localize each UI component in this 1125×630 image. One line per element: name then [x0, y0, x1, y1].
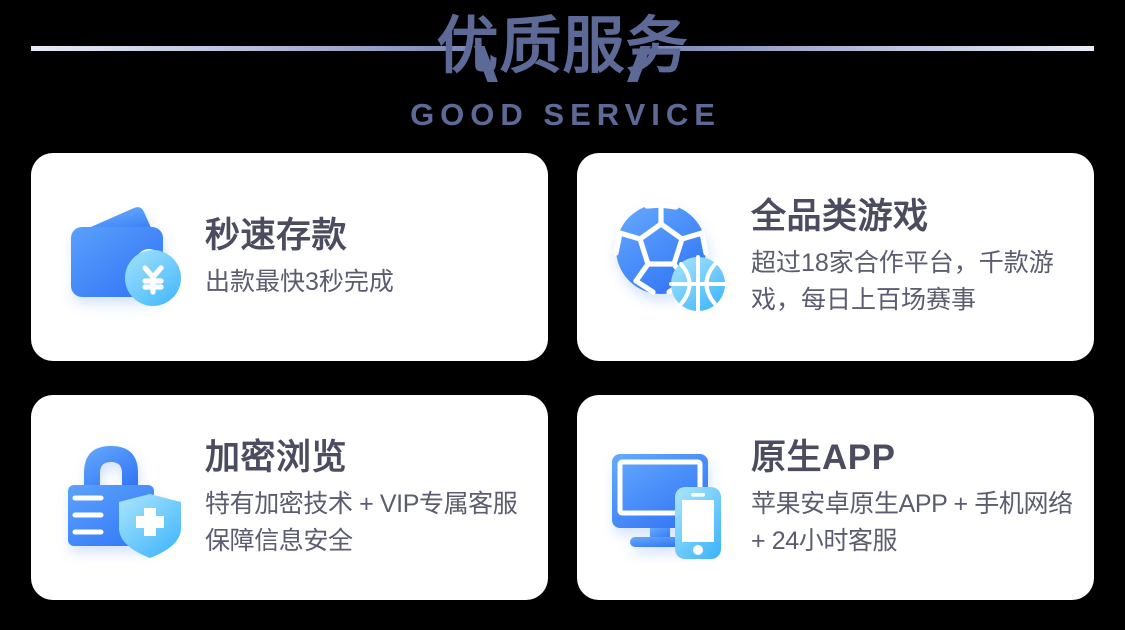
card-text-block: 原生APP 苹果安卓原生APP + 手机网络 + 24小时客服: [751, 436, 1084, 560]
card-title: 原生APP: [751, 436, 1084, 479]
card-description: 超过18家合作平台，千款游戏，每日上百场赛事: [751, 245, 1084, 319]
page-title: 优质服务: [0, 9, 1125, 85]
feature-card-games[interactable]: 全品类游戏 超过18家合作平台，千款游戏，每日上百场赛事: [577, 153, 1094, 361]
page-header: 优质服务 GOOD SERVICE: [0, 0, 1125, 140]
feature-card-grid: 秒速存款 出款最快3秒完成: [31, 153, 1094, 600]
card-title: 秒速存款: [205, 214, 538, 257]
card-text-block: 全品类游戏 超过18家合作平台，千款游戏，每日上百场赛事: [751, 195, 1084, 319]
soccer-basketball-icon: [603, 191, 735, 323]
card-title: 全品类游戏: [751, 195, 1084, 238]
card-text-block: 秒速存款 出款最快3秒完成: [205, 214, 538, 301]
monitor-phone-icon: [603, 432, 735, 564]
card-description: 苹果安卓原生APP + 手机网络 + 24小时客服: [751, 486, 1084, 560]
page-subtitle: GOOD SERVICE: [0, 96, 1125, 134]
card-description: 出款最快3秒完成: [205, 264, 538, 301]
lock-shield-icon: [57, 432, 189, 564]
feature-card-encryption[interactable]: 加密浏览 特有加密技术 + VIP专属客服保障信息安全: [31, 395, 548, 600]
feature-card-native-app[interactable]: 原生APP 苹果安卓原生APP + 手机网络 + 24小时客服: [577, 395, 1094, 600]
card-description: 特有加密技术 + VIP专属客服保障信息安全: [205, 486, 538, 560]
wallet-icon: [57, 191, 189, 323]
card-text-block: 加密浏览 特有加密技术 + VIP专属客服保障信息安全: [205, 436, 538, 560]
feature-card-deposit[interactable]: 秒速存款 出款最快3秒完成: [31, 153, 548, 361]
card-title: 加密浏览: [205, 436, 538, 479]
